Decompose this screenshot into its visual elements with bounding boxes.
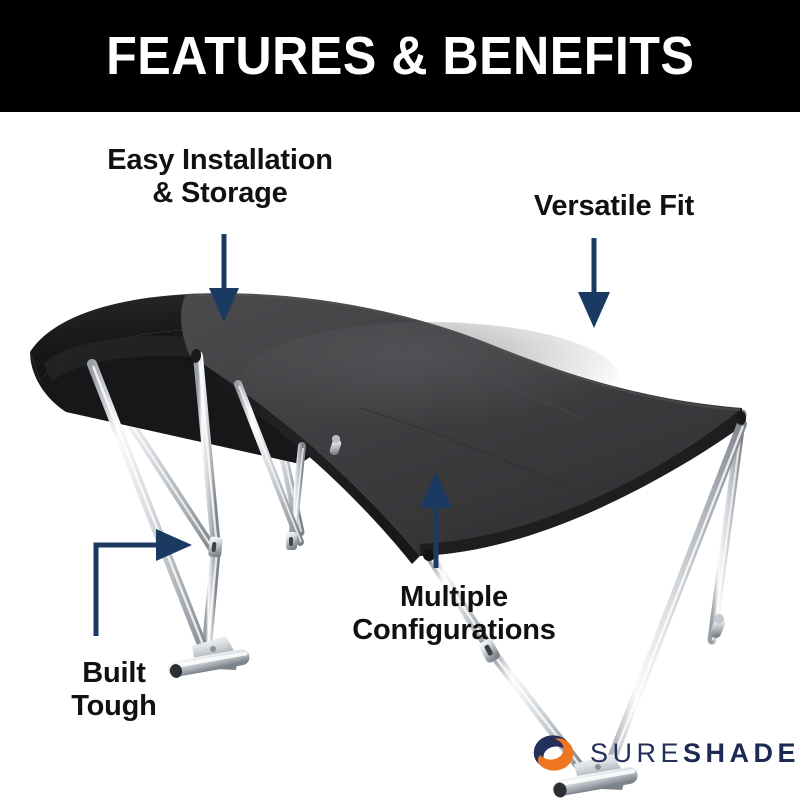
callout-label-versatile-fit: Versatile Fit — [486, 190, 742, 223]
sureshade-wordmark: SURE SHADE ® — [590, 738, 800, 769]
frame-strut-knuckle-middle — [286, 532, 297, 550]
callout-label-easy-installation: Easy Installation & Storage — [72, 144, 368, 210]
sureshade-s-swirl-icon — [528, 728, 578, 778]
features-benefits-infographic: FEATURES & BENEFITS — [0, 0, 800, 800]
frame-hinge-left — [208, 536, 223, 557]
callout-label-multiple-configurations: Multiple Configurations — [322, 581, 586, 647]
page-title: FEATURES & BENEFITS — [106, 29, 694, 83]
logo-text-shade: SHADE — [683, 738, 800, 769]
header-banner: FEATURES & BENEFITS — [0, 0, 800, 112]
logo-text-sure: SURE — [590, 738, 683, 769]
sureshade-logo: SURE SHADE ® — [528, 722, 778, 784]
callout-label-built-tough: Built Tough — [30, 657, 198, 723]
